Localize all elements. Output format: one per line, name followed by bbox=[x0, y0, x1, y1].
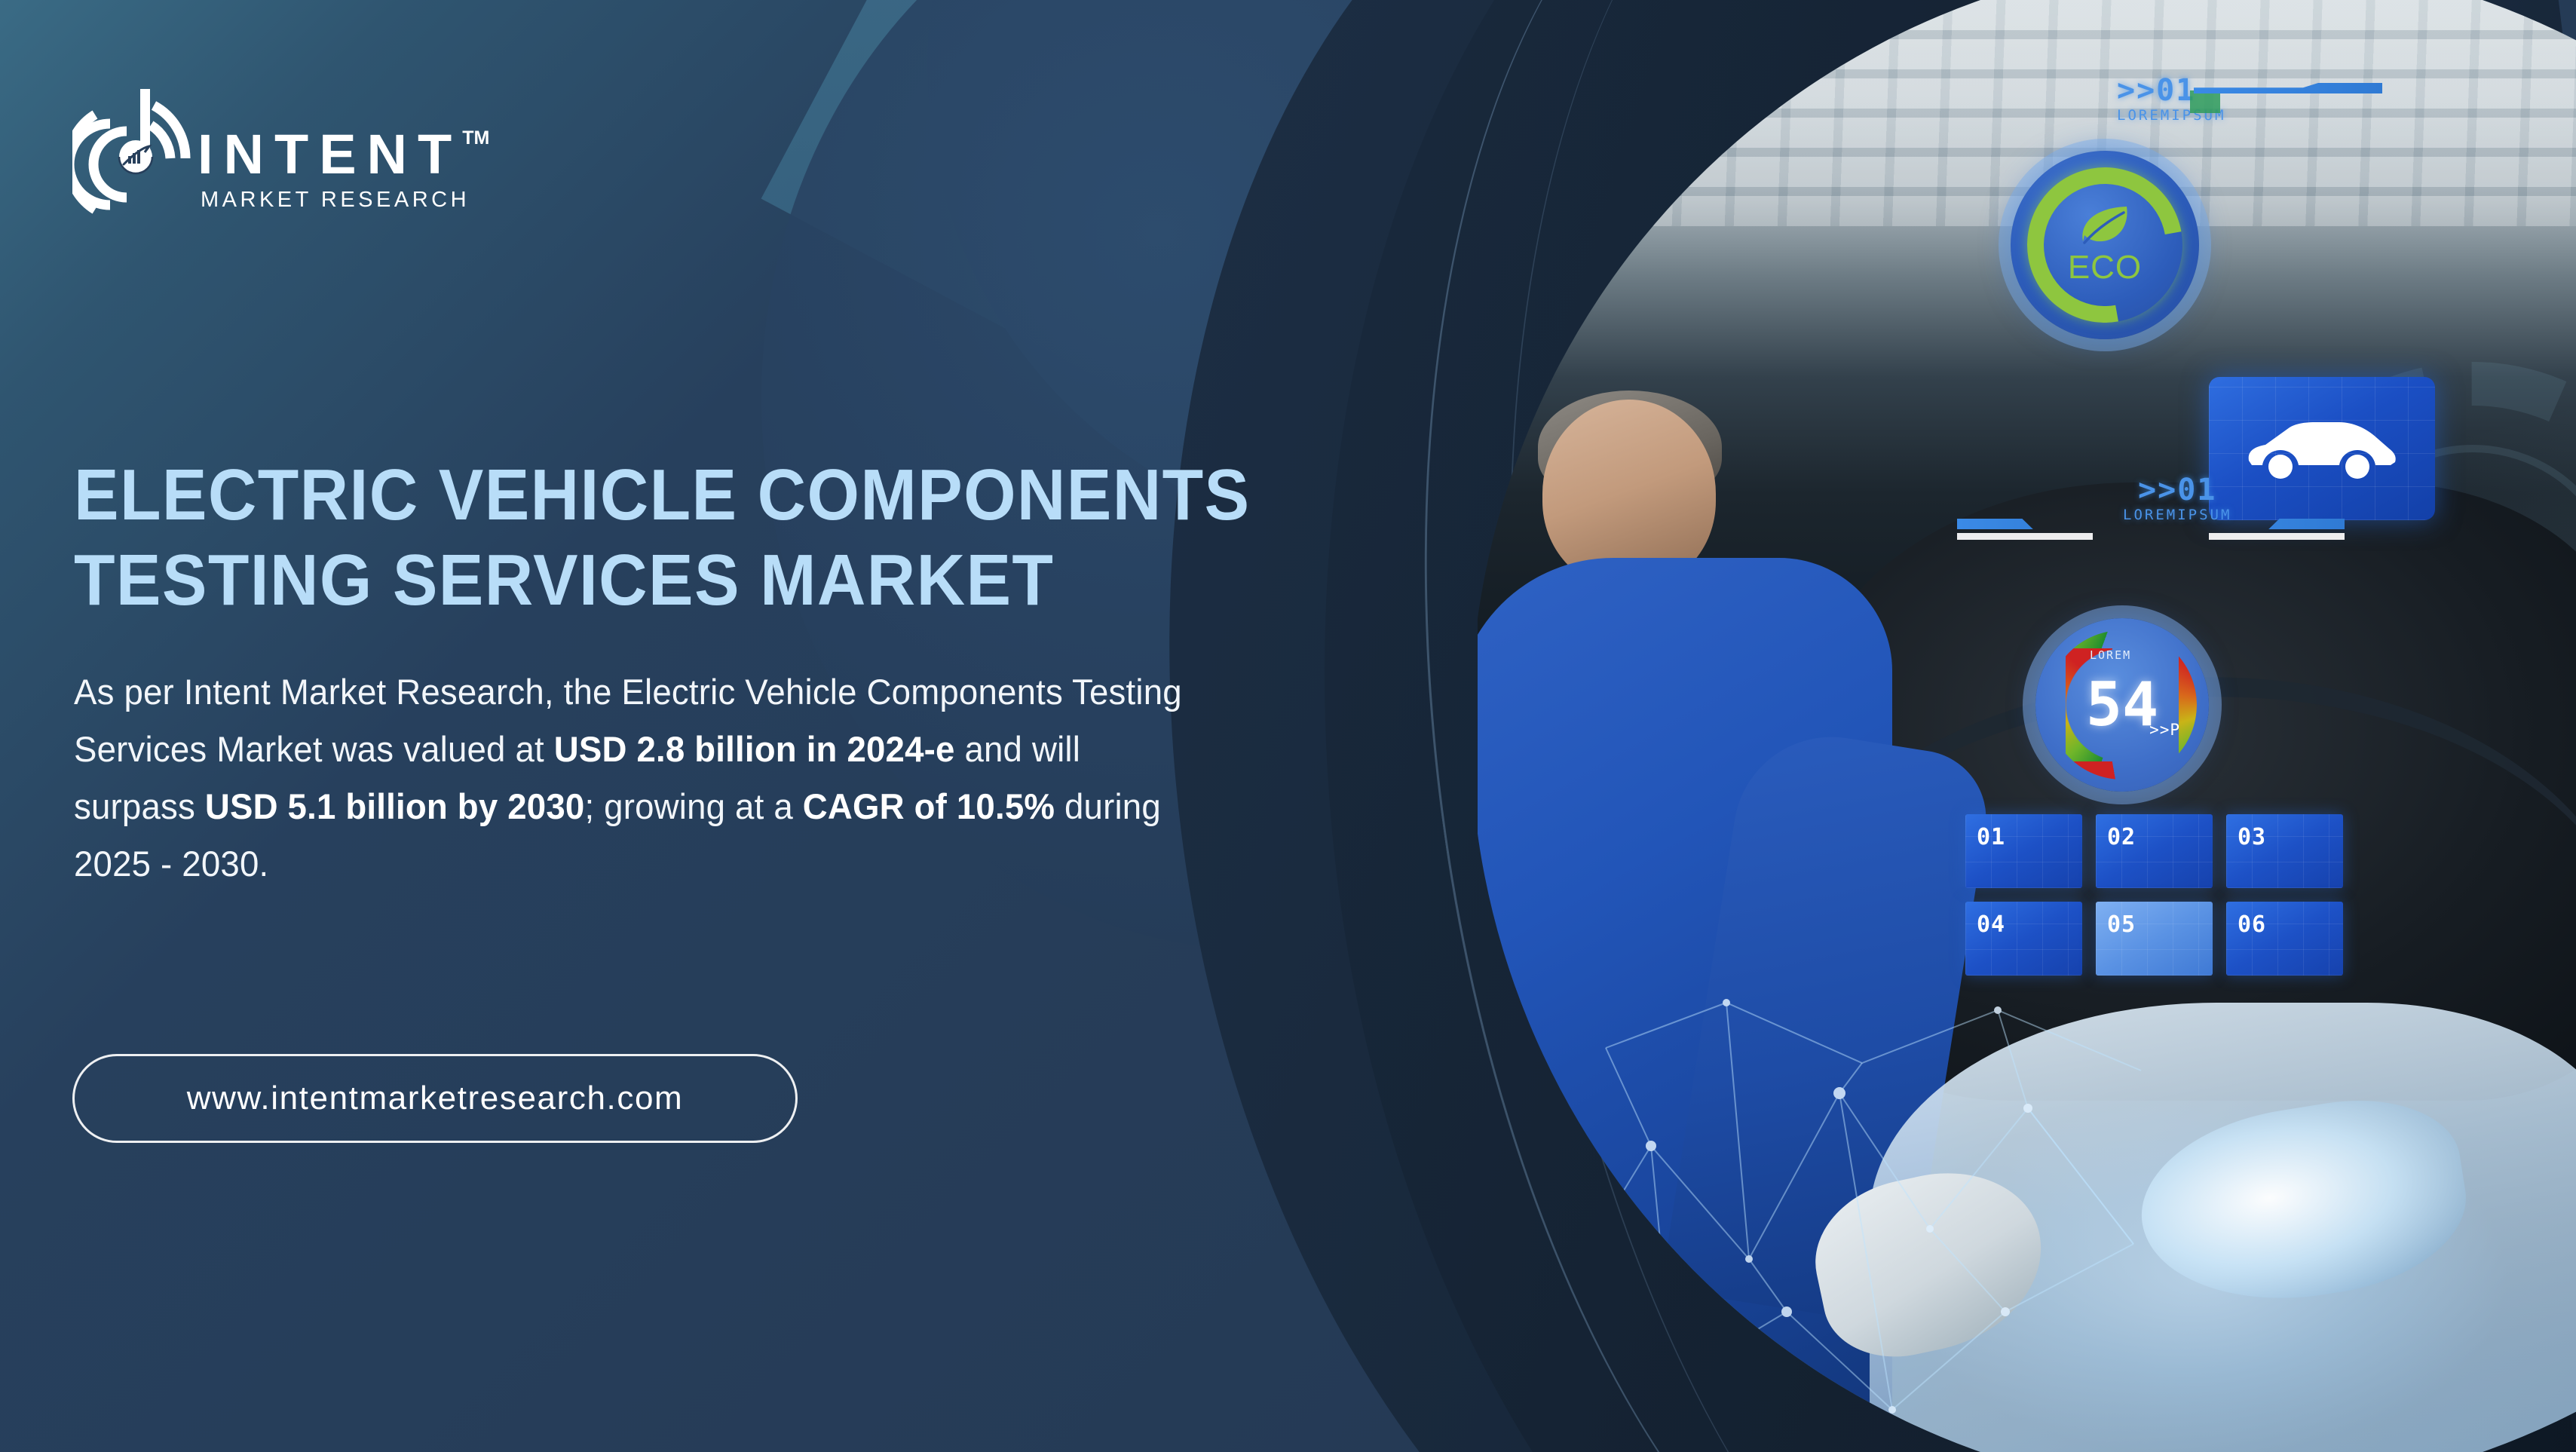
headline-line-1: ELECTRIC VEHICLE COMPONENTS bbox=[74, 452, 1406, 538]
hud-tile: 04 bbox=[1965, 902, 2082, 976]
car-icon-panel bbox=[2209, 377, 2435, 520]
hud-tile: 05 bbox=[2096, 902, 2213, 976]
hud-tile-label: 01 bbox=[1977, 824, 2082, 850]
hud-top-bar-group bbox=[2194, 83, 2382, 93]
car-side-icon bbox=[2243, 414, 2401, 483]
logo-tagline: MARKET RESEARCH bbox=[201, 188, 489, 213]
speed-gauge-top-label: LOREM bbox=[2090, 648, 2131, 662]
brand-logo: INTENT TM MARKET RESEARCH bbox=[72, 83, 489, 217]
hud-tile-label: 06 bbox=[2238, 911, 2343, 938]
leaf-icon bbox=[2077, 204, 2133, 247]
page-title: ELECTRIC VEHICLE COMPONENTS TESTING SERV… bbox=[74, 452, 1406, 623]
hud-bar-right-blue bbox=[2209, 519, 2345, 529]
hud-tile-label: 05 bbox=[2107, 911, 2213, 938]
logo-brand-name: INTENT bbox=[198, 127, 462, 181]
hud-marker-chevron-2: >>01 bbox=[2123, 475, 2231, 505]
paragraph-text-3: ; growing at a bbox=[584, 786, 802, 826]
radar-waves-globe-chart-icon bbox=[72, 83, 202, 217]
hud-bar-right bbox=[2209, 519, 2345, 540]
stat-cagr: CAGR of 10.5% bbox=[803, 786, 1055, 826]
stat-base-value: USD 2.8 billion in 2024-e bbox=[554, 729, 955, 769]
hud-progress-bar bbox=[2194, 83, 2382, 93]
hud-tile: 02 bbox=[2096, 814, 2213, 888]
headline-line-2: TESTING SERVICES MARKET bbox=[74, 538, 1406, 623]
hud-tile-grid: 01 02 03 04 05 06 bbox=[1965, 814, 2343, 976]
stat-forecast-value: USD 5.1 billion by 2030 bbox=[205, 786, 585, 826]
hud-tile: 01 bbox=[1965, 814, 2082, 888]
hud-tile: 06 bbox=[2226, 902, 2343, 976]
hud-bar-left-white bbox=[1957, 533, 2093, 540]
hud-tile-label: 04 bbox=[1977, 911, 2082, 938]
hud-bar-right-white bbox=[2209, 533, 2345, 540]
eco-badge-label: ECO bbox=[2068, 249, 2142, 286]
logo-trademark: TM bbox=[462, 129, 489, 147]
speed-gauge-unit: >>P bbox=[2149, 721, 2180, 739]
hud-tile-label: 02 bbox=[2107, 824, 2213, 850]
hud-marker-middle: >>01 LOREMIPSUM bbox=[2123, 475, 2231, 523]
speed-gauge-value: 54 bbox=[2086, 675, 2158, 735]
hud-bar-left-blue bbox=[1957, 519, 2093, 529]
hud-green-chip bbox=[2190, 90, 2220, 113]
speed-gauge: LOREM 54 >>P bbox=[2035, 618, 2209, 792]
website-url-label: www.intentmarketresearch.com bbox=[187, 1080, 684, 1117]
hud-tile-label: 03 bbox=[2238, 824, 2343, 850]
market-summary-paragraph: As per Intent Market Research, the Elect… bbox=[74, 663, 1193, 893]
website-url-button[interactable]: www.intentmarketresearch.com bbox=[72, 1054, 798, 1143]
hud-bar-left bbox=[1957, 519, 2093, 540]
eco-badge: ECO bbox=[2011, 151, 2199, 339]
hud-tile: 03 bbox=[2226, 814, 2343, 888]
market-research-banner: >>01 LOREMIPSUM ECO >>01 LOREMIPSUM bbox=[0, 0, 2576, 1452]
